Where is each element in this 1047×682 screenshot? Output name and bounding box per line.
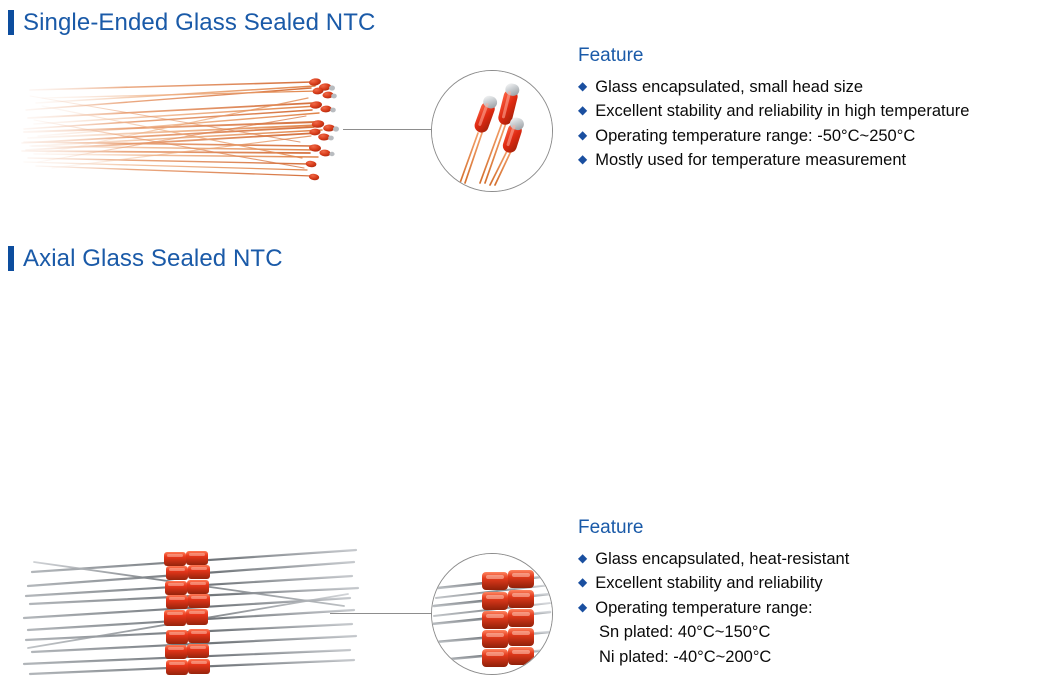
- section-heading-axial: Axial Glass Sealed NTC: [8, 246, 283, 271]
- product-photo-single-ended: [12, 58, 372, 188]
- diamond-bullet-icon: ◆: [578, 99, 587, 122]
- feature-list-axial: ◆ Glass encapsulated, heat-resistant ◆ E…: [578, 547, 849, 620]
- diamond-bullet-icon: ◆: [578, 124, 587, 147]
- page-title-single: Single-Ended Glass Sealed NTC: [23, 11, 375, 35]
- list-item: ◆ Mostly used for temperature measuremen…: [578, 148, 969, 172]
- feature-text: Excellent stability and reliability in h…: [595, 99, 969, 123]
- accent-bar-icon: [8, 246, 14, 271]
- diamond-bullet-icon: ◆: [578, 571, 587, 594]
- list-item: ◆ Glass encapsulated, small head size: [578, 75, 969, 99]
- feature-text: Operating temperature range:: [595, 596, 812, 620]
- magnifier-connector-line-single: [343, 129, 433, 130]
- feature-text: Excellent stability and reliability: [595, 571, 822, 595]
- page-title-axial: Axial Glass Sealed NTC: [23, 247, 283, 271]
- list-item: ◆ Operating temperature range: -50°C~250…: [578, 124, 969, 148]
- diamond-bullet-icon: ◆: [578, 547, 587, 570]
- section-heading-single: Single-Ended Glass Sealed NTC: [8, 10, 375, 35]
- magnifier-connector-line-axial: [330, 613, 433, 614]
- feature-text: Operating temperature range: -50°C~250°C: [595, 124, 915, 148]
- accent-bar-icon: [8, 10, 14, 35]
- feature-heading-single: Feature: [578, 46, 969, 67]
- section-axial: Axial Glass Sealed NTC: [0, 232, 1047, 469]
- list-item: ◆ Glass encapsulated, heat-resistant: [578, 547, 849, 571]
- magnifier-circle-single: [431, 70, 553, 192]
- feature-text: Glass encapsulated, small head size: [595, 75, 863, 99]
- feature-text: Mostly used for temperature measurement: [595, 148, 906, 172]
- thermistor-heads: [305, 78, 339, 181]
- magnifier-circle-axial: [431, 553, 553, 675]
- section-single-ended: Single-Ended Glass Sealed NTC: [0, 0, 1047, 232]
- feature-text: Glass encapsulated, heat-resistant: [595, 547, 849, 571]
- diamond-bullet-icon: ◆: [578, 148, 587, 171]
- product-photo-axial: [14, 532, 374, 682]
- sub-feature-sn-plated: Sn plated: 40°C~150°C: [578, 620, 849, 644]
- feature-list-single: ◆ Glass encapsulated, small head size ◆ …: [578, 75, 969, 173]
- feature-panel-single: Feature ◆ Glass encapsulated, small head…: [578, 46, 969, 173]
- diamond-bullet-icon: ◆: [578, 596, 587, 619]
- feature-panel-axial: Feature ◆ Glass encapsulated, heat-resis…: [578, 518, 849, 669]
- list-item: ◆ Excellent stability and reliability in…: [578, 99, 969, 123]
- list-item: ◆ Operating temperature range:: [578, 596, 849, 620]
- feature-heading-axial: Feature: [578, 518, 849, 539]
- sub-feature-ni-plated: Ni plated: -40°C~200°C: [578, 645, 849, 669]
- list-item: ◆ Excellent stability and reliability: [578, 571, 849, 595]
- diamond-bullet-icon: ◆: [578, 75, 587, 98]
